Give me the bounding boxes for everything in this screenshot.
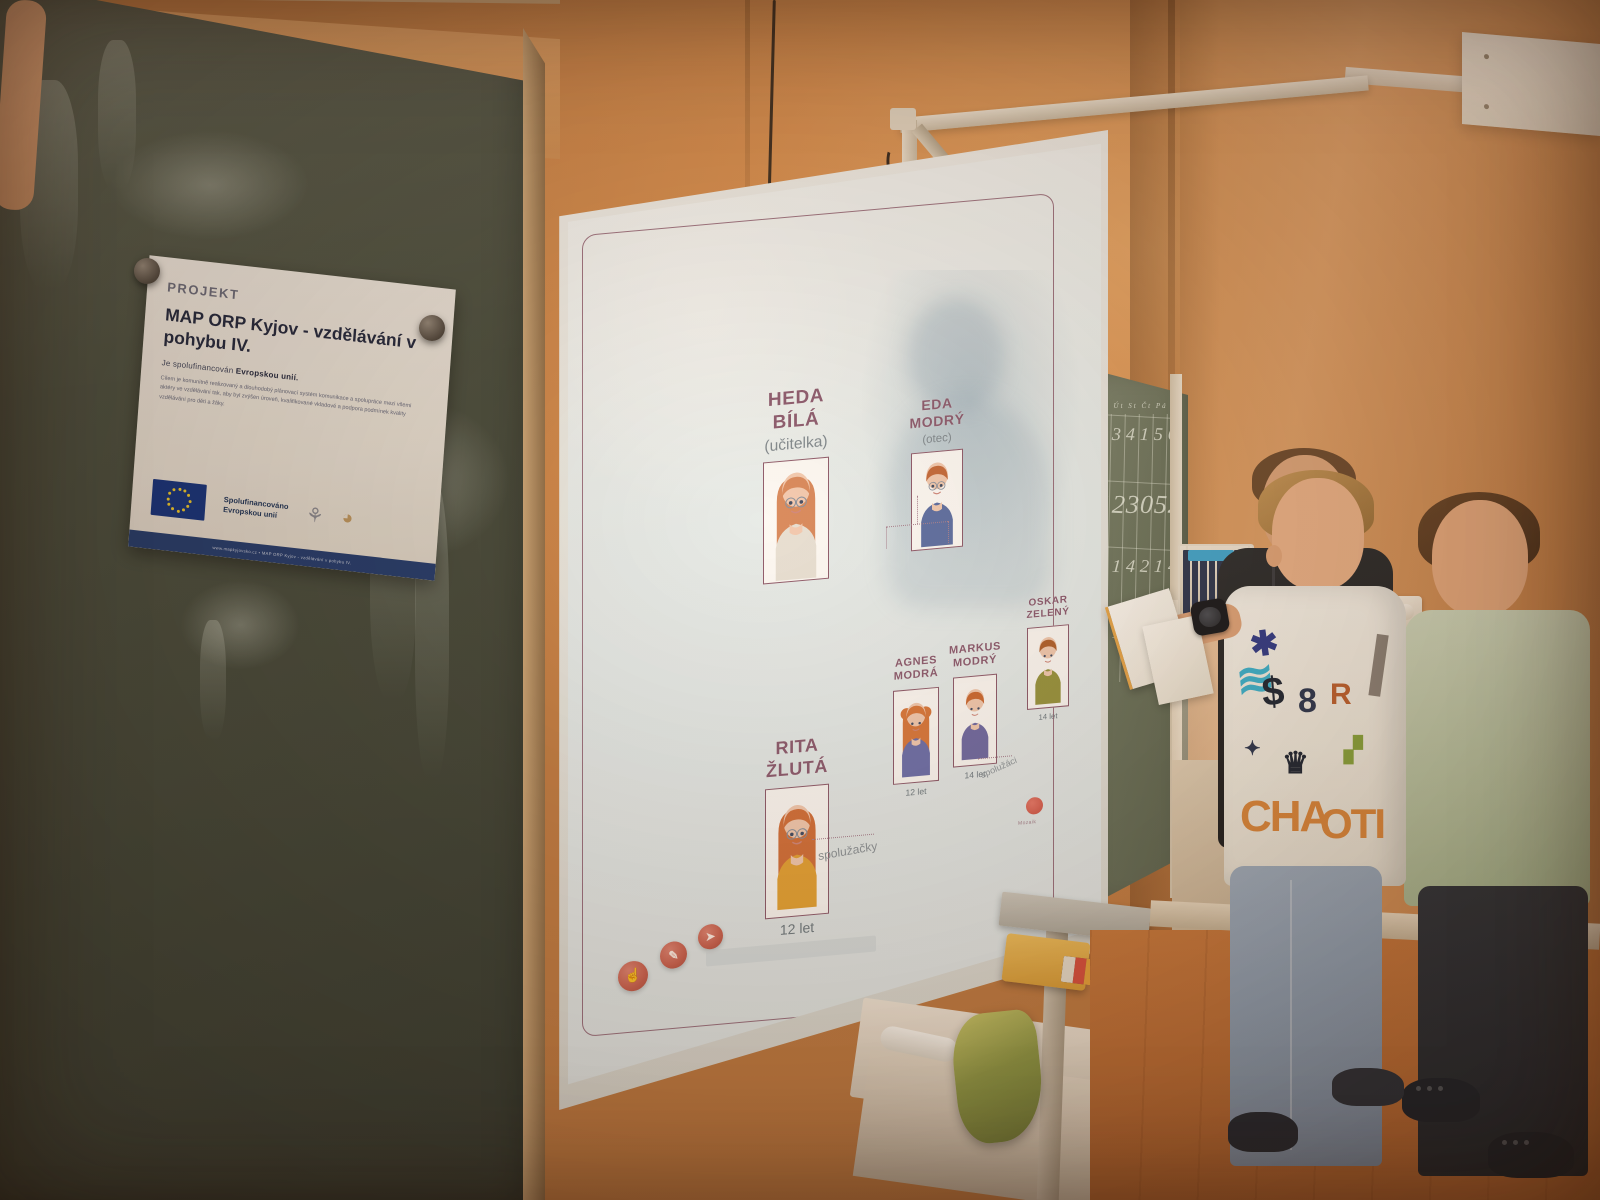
chalk-grid-number: 4 (1126, 424, 1136, 445)
node-name-eda: EDA MODRÝ (892, 392, 982, 434)
node-age-agnes: 12 let (874, 783, 958, 800)
magnet-icon (419, 315, 445, 341)
student-c-shoe (1402, 1078, 1480, 1122)
student-c-pants (1418, 886, 1588, 1176)
chalk-grid-number: 2 (1139, 556, 1149, 578)
node-name-oskar: OSKAR ZELENÝ (1008, 593, 1088, 625)
chalk-grid-number: 0 (1139, 490, 1154, 521)
slide-logo-icon (1026, 797, 1043, 816)
poster-subtitle-prefix: Je spolufinancován (161, 358, 236, 375)
node-age-rita: 12 let (746, 916, 848, 941)
chalkboard-left-edge (523, 28, 545, 1200)
node-portrait-heda (763, 457, 829, 585)
node-age-oskar: 14 let (1008, 709, 1088, 725)
region-logo-icon: ◕ (341, 507, 354, 530)
hand-pointer-icon[interactable]: ☝ (618, 960, 648, 993)
jeans-seam (1290, 880, 1292, 1150)
slide-footer-bar (706, 935, 876, 966)
student-b-graffiti-shirt: ✱ ≋ $ 8 R ♛ ✦ CHA OTI ▞ ❙ (1224, 586, 1406, 886)
eu-flag-icon (151, 479, 207, 521)
chalk-grid-number: 5 (1154, 424, 1164, 445)
partner-logo-icon: ⚘ (305, 502, 325, 529)
node-name-heda: HEDA BÍLÁ (744, 382, 848, 438)
magnet-icon (134, 258, 160, 284)
tree-connector (886, 526, 887, 548)
student-b-head (1272, 478, 1364, 590)
family-tree-node-heda[interactable]: HEDA BÍLÁ(učitelka) (744, 382, 848, 587)
chalk-grid-number: 4 (1125, 556, 1135, 578)
chalkboard-left (0, 0, 545, 1200)
node-portrait-eda (911, 449, 963, 552)
node-name-rita: RITA ŽLUTÁ (746, 732, 848, 785)
node-portrait-oskar (1027, 625, 1069, 711)
node-portrait-agnes (893, 687, 939, 785)
classroom-scene: PROJEKT MAP ORP Kyjov - vzdělávání v poh… (0, 0, 1600, 1200)
eu-logo-text: Spolufinancováno Evropskou unií (223, 495, 289, 522)
student-c-shirt (1404, 610, 1590, 906)
family-tree-node-eda[interactable]: EDA MODRÝ(otec) (892, 392, 982, 553)
poster-subtitle-bold: Evropskou unií. (235, 366, 298, 382)
node-name-markus: MARKUS MODRÝ (934, 639, 1016, 673)
student-b-ear (1266, 545, 1282, 567)
tree-connector (948, 521, 949, 543)
student-c-head (1432, 500, 1528, 616)
chalk-grid-header: Po Út St Čt Pá (1098, 402, 1168, 410)
node-portrait-markus (953, 673, 997, 767)
slide-logo-label: Mozaik (1018, 819, 1036, 827)
portrait-illustration (894, 688, 938, 784)
student-b-shoe (1332, 1068, 1404, 1106)
chalk-grid-number: 3 (1112, 424, 1122, 445)
portrait-illustration (954, 675, 996, 767)
chalk-grid-number: 3 (1125, 490, 1140, 521)
family-tree-node-oskar[interactable]: OSKAR ZELENÝ 14 let (1008, 593, 1088, 726)
chalk-grid-number: 1 (1140, 424, 1150, 445)
wristwatch (1189, 597, 1230, 637)
portrait-illustration (764, 458, 828, 584)
pen-icon[interactable]: ✎ (660, 940, 687, 969)
poster-logo-row: Spolufinancováno Evropskou unií ⚘ ◕ (151, 479, 426, 545)
forward-icon[interactable]: ➤ (698, 923, 723, 950)
ceiling-light-panel (1462, 32, 1600, 136)
chalk-grid-number: 1 (1111, 556, 1121, 578)
student-b-shoe (1228, 1112, 1298, 1152)
projector-mount-head (890, 108, 916, 130)
project-poster: PROJEKT MAP ORP Kyjov - vzdělávání v poh… (128, 255, 456, 581)
tree-connector (917, 496, 918, 524)
portrait-illustration (912, 450, 962, 550)
portrait-illustration (1028, 626, 1068, 710)
student-c-shoe (1488, 1132, 1574, 1178)
chalk-grid-number: 2 (1111, 490, 1126, 521)
chalk-grid-number: 5 (1153, 490, 1168, 521)
chalk-grid-number: 1 (1153, 556, 1163, 578)
